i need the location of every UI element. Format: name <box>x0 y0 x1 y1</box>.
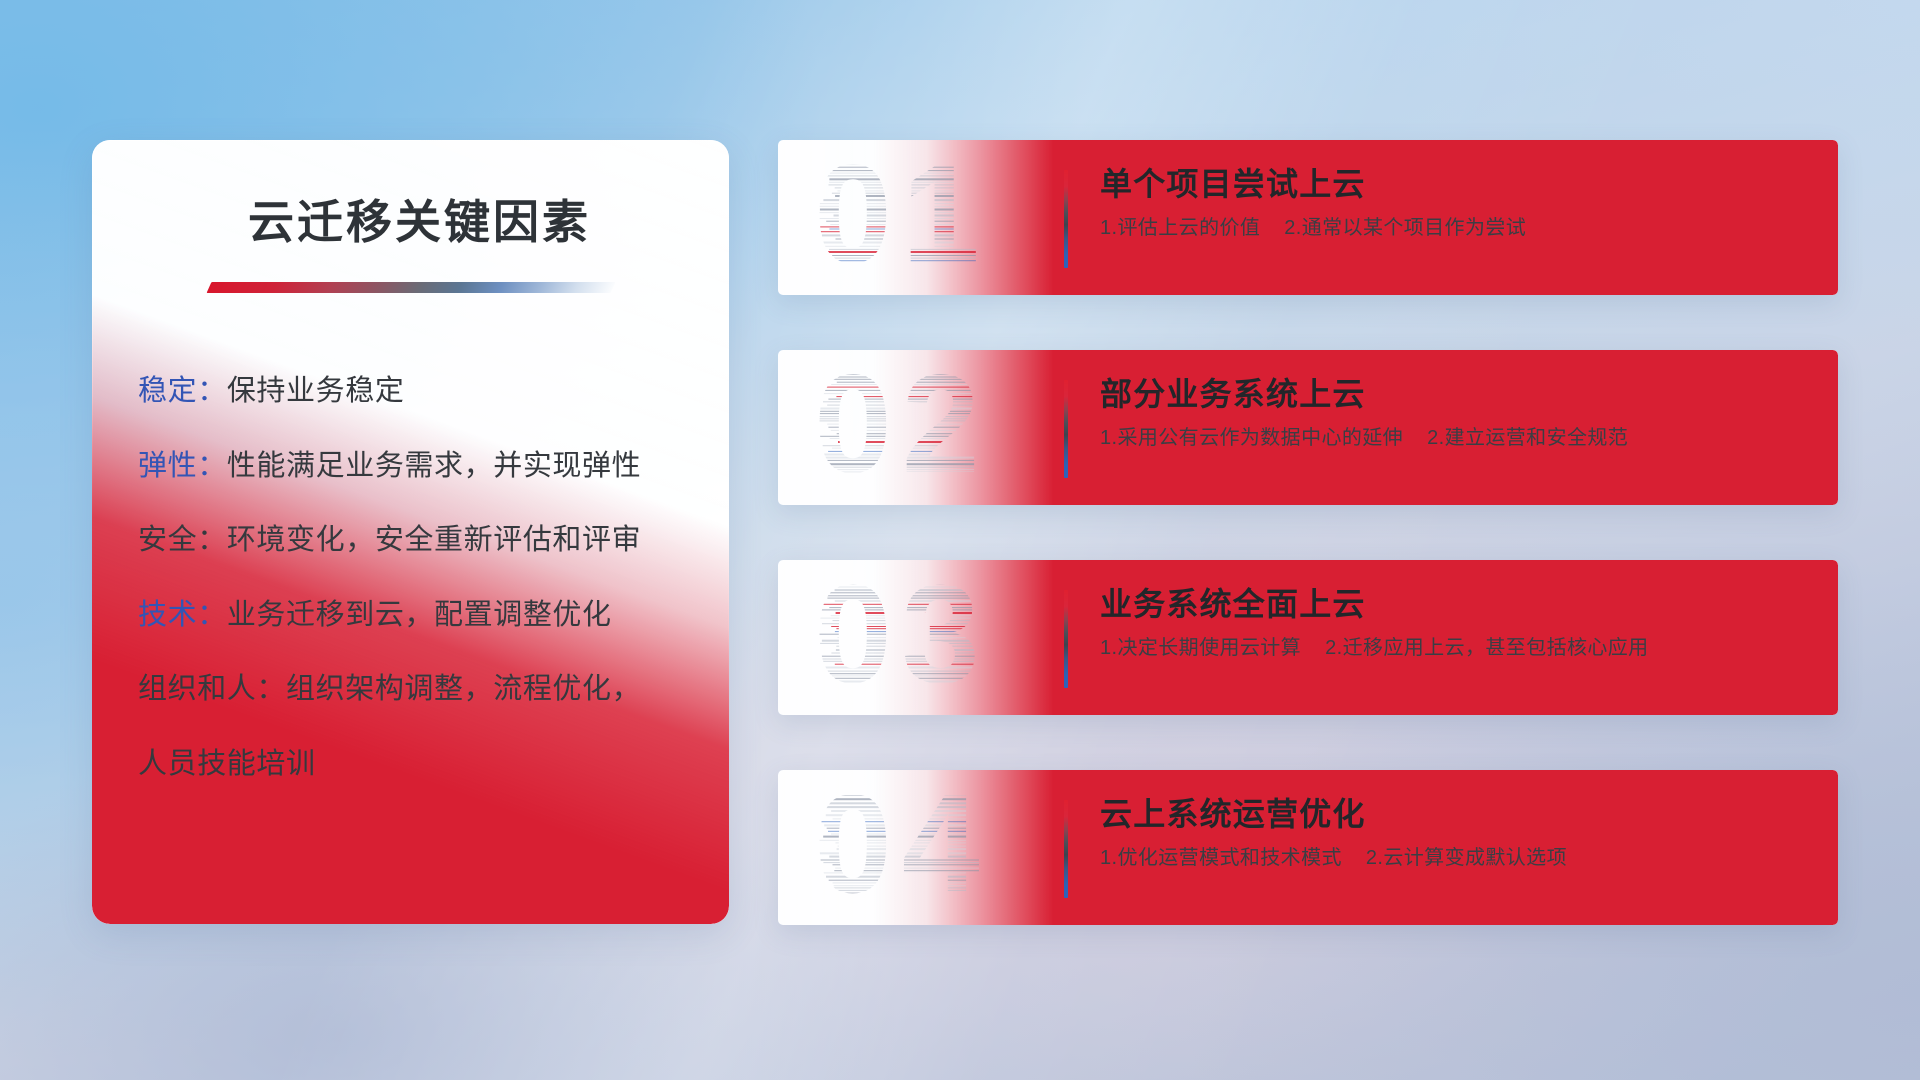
factor-row: 技术：业务迁移到云，配置调整优化 <box>138 601 729 631</box>
factor-row: 稳定：保持业务稳定 <box>138 377 729 407</box>
factor-row: 弹性：性能满足业务需求，并实现弹性 <box>138 452 729 482</box>
factor-text: 人员技能培训 <box>138 748 316 780</box>
title-underline-bar <box>206 282 615 293</box>
card-divider-bar <box>1064 170 1068 268</box>
card-point-1: 1.采用公有云作为数据中心的延伸 <box>1100 427 1403 449</box>
key-factors-panel: 云迁移关键因素 稳定：保持业务稳定弹性：性能满足业务需求，并实现弹性安全：环境变… <box>92 140 729 924</box>
card-title: 云上系统运营优化 <box>1100 797 1812 832</box>
page-title: 云迁移关键因素 <box>92 186 729 252</box>
card-body: 部分业务系统上云1.采用公有云作为数据中心的延伸2.建立运营和安全规范 <box>1100 377 1812 450</box>
slide-stage: 云迁移关键因素 稳定：保持业务稳定弹性：性能满足业务需求，并实现弹性安全：环境变… <box>0 0 1920 1080</box>
stage-number-glyph: 04 <box>812 780 1048 916</box>
card-divider-bar <box>1064 380 1068 478</box>
factor-text: 业务迁移到云，配置调整优化 <box>227 599 612 631</box>
card-subtitle: 1.优化运营模式和技术模式2.云计算变成默认选项 <box>1100 847 1812 870</box>
stage-number: 0303 <box>812 570 1048 706</box>
card-point-2: 2.迁移应用上云，甚至包括核心应用 <box>1325 637 1648 659</box>
stage-number-glyph: 02 <box>812 360 1048 496</box>
card-subtitle: 1.评估上云的价值2.通常以某个项目作为尝试 <box>1100 217 1812 240</box>
factor-row: 组织和人：组织架构调整，流程优化， <box>138 675 729 705</box>
card-divider-bar <box>1064 590 1068 688</box>
card-title: 部分业务系统上云 <box>1100 377 1812 412</box>
factor-list: 稳定：保持业务稳定弹性：性能满足业务需求，并实现弹性安全：环境变化，安全重新评估… <box>92 377 729 779</box>
factor-text: 环境变化，安全重新评估和评审 <box>227 524 641 556</box>
card-body: 业务系统全面上云1.决定长期使用云计算2.迁移应用上云，甚至包括核心应用 <box>1100 587 1812 660</box>
factor-row: 安全：环境变化，安全重新评估和评审 <box>138 526 729 556</box>
card-subtitle: 1.采用公有云作为数据中心的延伸2.建立运营和安全规范 <box>1100 427 1812 450</box>
card-subtitle: 1.决定长期使用云计算2.迁移应用上云，甚至包括核心应用 <box>1100 637 1812 660</box>
stage-card-list: 0101单个项目尝试上云1.评估上云的价值2.通常以某个项目作为尝试0202部分… <box>778 140 1838 925</box>
factor-text: 性能满足业务需求，并实现弹性 <box>227 450 641 482</box>
stage-card[interactable]: 0303业务系统全面上云1.决定长期使用云计算2.迁移应用上云，甚至包括核心应用 <box>778 560 1838 715</box>
card-title: 单个项目尝试上云 <box>1100 167 1812 202</box>
stage-card[interactable]: 0101单个项目尝试上云1.评估上云的价值2.通常以某个项目作为尝试 <box>778 140 1838 295</box>
card-point-2: 2.建立运营和安全规范 <box>1427 427 1628 449</box>
factor-key: 安全： <box>138 524 227 556</box>
stage-number: 0101 <box>812 150 1048 286</box>
factor-row: 人员技能培训 <box>138 750 729 780</box>
card-body: 单个项目尝试上云1.评估上云的价值2.通常以某个项目作为尝试 <box>1100 167 1812 240</box>
stage-number-glyph: 01 <box>812 150 1048 286</box>
factor-text: 组织架构调整，流程优化， <box>286 673 641 705</box>
card-point-1: 1.评估上云的价值 <box>1100 217 1260 239</box>
stage-number: 0202 <box>812 360 1048 496</box>
factor-key: 弹性： <box>138 450 227 482</box>
card-point-2: 2.云计算变成默认选项 <box>1366 847 1567 869</box>
factor-key: 稳定： <box>138 375 227 407</box>
stage-number-glyph: 03 <box>812 570 1048 706</box>
card-point-1: 1.优化运营模式和技术模式 <box>1100 847 1342 869</box>
stage-card[interactable]: 0404云上系统运营优化1.优化运营模式和技术模式2.云计算变成默认选项 <box>778 770 1838 925</box>
panel-content: 云迁移关键因素 稳定：保持业务稳定弹性：性能满足业务需求，并实现弹性安全：环境变… <box>92 140 729 779</box>
factor-key: 技术： <box>138 599 227 631</box>
factor-text: 保持业务稳定 <box>227 375 405 407</box>
card-title: 业务系统全面上云 <box>1100 587 1812 622</box>
card-body: 云上系统运营优化1.优化运营模式和技术模式2.云计算变成默认选项 <box>1100 797 1812 870</box>
stage-card[interactable]: 0202部分业务系统上云1.采用公有云作为数据中心的延伸2.建立运营和安全规范 <box>778 350 1838 505</box>
card-point-1: 1.决定长期使用云计算 <box>1100 637 1301 659</box>
stage-number: 0404 <box>812 780 1048 916</box>
card-divider-bar <box>1064 800 1068 898</box>
card-point-2: 2.通常以某个项目作为尝试 <box>1284 217 1526 239</box>
factor-key: 组织和人： <box>138 673 286 705</box>
